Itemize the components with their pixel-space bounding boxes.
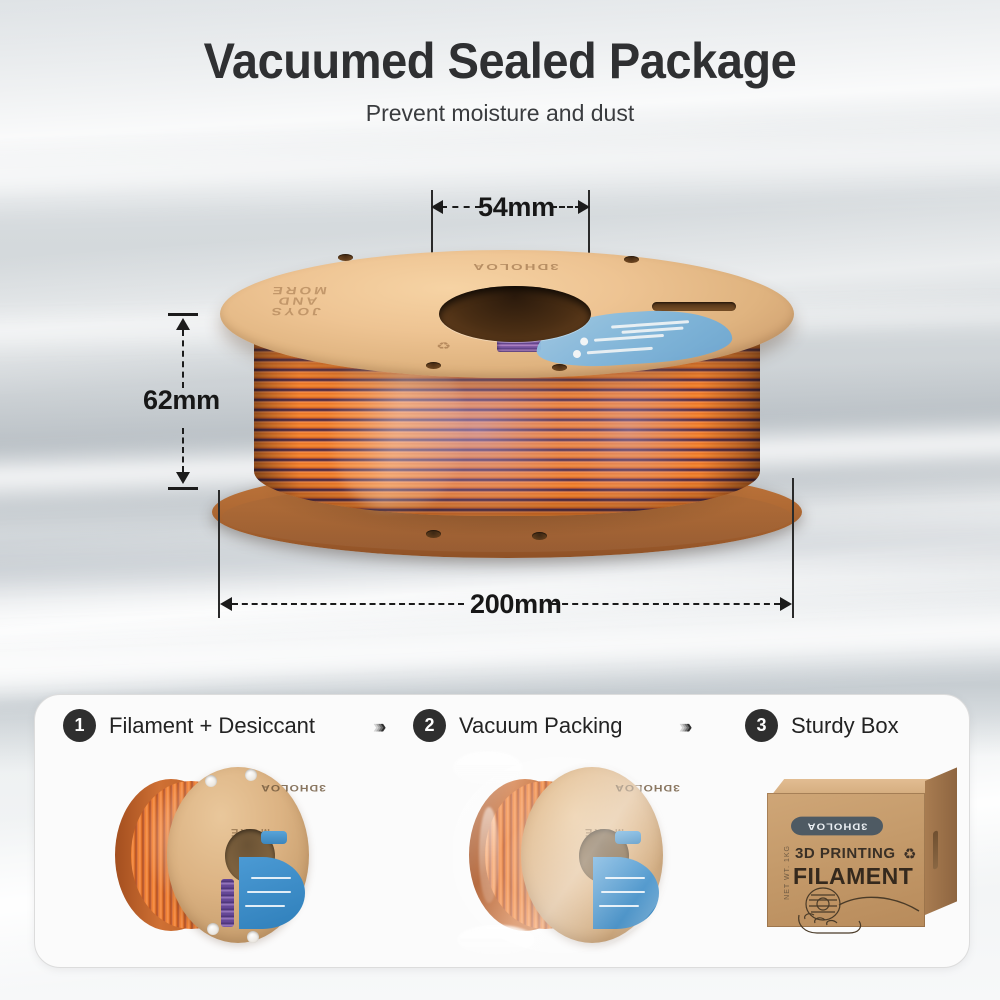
flange-hole (245, 769, 257, 781)
mini-filament-tail-clip (221, 879, 234, 927)
box-front-face: 3DHOLOA NET WT. 1KG 3D PRINTING FILAMENT… (767, 793, 925, 927)
infographic-canvas: Vacuumed Sealed Package Prevent moisture… (0, 0, 1000, 1000)
step-number-badge-1: 1 (63, 709, 96, 742)
dim-dash-right (552, 603, 780, 605)
dimension-label-hole-width: 54mm (478, 192, 555, 223)
recycling-icon: ♻ (903, 845, 916, 863)
extension-line-right (792, 478, 794, 618)
step-separator-icon-1: ›››› (373, 717, 382, 739)
step-label-3: Sturdy Box (791, 713, 899, 739)
bag-fold (457, 925, 535, 955)
brand-logo-text: 3DHOLOA (400, 262, 630, 271)
arrowhead-up (176, 318, 190, 330)
recycling-icon: ♻ (436, 341, 451, 352)
mini-label-tab (261, 831, 287, 844)
page-subtitle: Prevent moisture and dust (0, 100, 1000, 127)
step-image-sturdy-box: 3DHOLOA NET WT. 1KG 3D PRINTING FILAMENT… (753, 779, 963, 931)
bag-fold (453, 751, 523, 785)
flange-hole (552, 364, 567, 371)
step-image-filament-spool: 3DHOLOA JOYS AND MORE ♻ (113, 767, 309, 943)
step-image-vacuum-packed-spool: 3DHOLOA JOYS AND MORE ♻ (467, 767, 663, 943)
dimension-label-spool-diameter: 200mm (470, 589, 562, 620)
brand-logo-text: 3DHOLOA (237, 782, 349, 793)
brand-logo-text: 3DHOLOA (591, 782, 703, 793)
arrowhead-right (578, 200, 590, 214)
flange-hole (205, 775, 217, 787)
box-brand-logo: 3DHOLOA (791, 817, 883, 836)
dim-dash-lower (182, 428, 184, 472)
step-label-1: Filament + Desiccant (109, 713, 315, 739)
tagline-line-1: JOYS (265, 306, 324, 317)
filament-spool: 3DHOLOA JOYS AND MORE ♻ (212, 248, 802, 560)
step-number-badge-2: 2 (413, 709, 446, 742)
dim-cap-bottom (168, 487, 198, 490)
dim-cap-top (168, 313, 198, 316)
tagline-text: JOYS AND MORE (265, 285, 328, 317)
flange-hole (207, 923, 219, 935)
step-number-badge-3: 3 (745, 709, 778, 742)
step-header-3: 3 Sturdy Box (745, 709, 899, 742)
step-label-2: Vacuum Packing (459, 713, 622, 739)
tagline-line-3: MORE (269, 285, 328, 296)
mini-label-tab (615, 831, 641, 844)
dim-dash-left (232, 603, 464, 605)
dim-dash-right (551, 206, 581, 208)
spool-top-flange: 3DHOLOA JOYS AND MORE ♻ (220, 250, 794, 378)
flange-hole (247, 931, 259, 943)
step-header-2: 2 Vacuum Packing (413, 709, 622, 742)
arrowhead-left (431, 200, 443, 214)
flange-hole (338, 254, 353, 261)
flange-hole (426, 362, 441, 369)
bag-fold (479, 807, 499, 903)
packaging-steps-panel: 1 Filament + Desiccant ›››› 2 Vacuum Pac… (34, 694, 970, 968)
flange-hole (532, 532, 547, 540)
box-grip-slot (933, 830, 938, 870)
box-line-art-hand-spool (789, 885, 935, 937)
filament-end-slot (652, 302, 736, 311)
step-header-1: 1 Filament + Desiccant (63, 709, 315, 742)
flange-hole (426, 530, 441, 538)
dim-dash-left (441, 206, 481, 208)
dim-dash-upper (182, 330, 184, 388)
arrowhead-left (220, 597, 232, 611)
flange-hole (624, 256, 639, 263)
arrowhead-right (780, 597, 792, 611)
dimension-label-spool-height: 62mm (143, 385, 220, 416)
page-title: Vacuumed Sealed Package (30, 32, 970, 90)
arrowhead-down (176, 472, 190, 484)
spool-center-hole (439, 286, 591, 342)
step-separator-icon-2: ›››› (679, 717, 688, 739)
box-text-line-1: 3D PRINTING (795, 845, 896, 862)
